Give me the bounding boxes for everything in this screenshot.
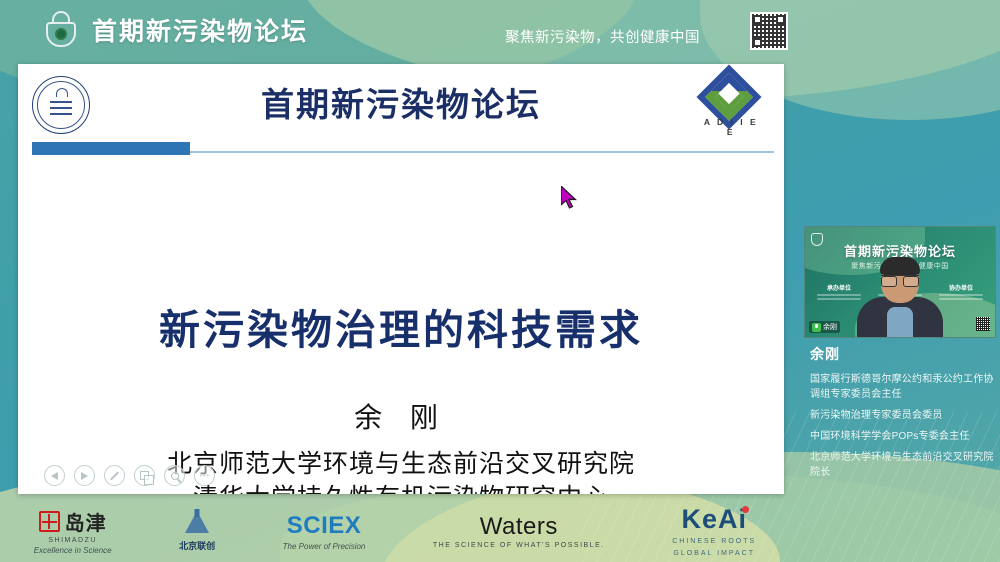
- microphone-icon: [812, 323, 821, 332]
- mouse-cursor: [561, 186, 577, 210]
- copy-icon: [140, 471, 149, 480]
- speaker-credential: 国家履行斯德哥尔摩公约和汞公约工作协调组专家委员会主任: [810, 372, 994, 402]
- magnifier-icon: [171, 472, 179, 480]
- header-slogan: 聚焦新污染物，共创健康中国: [505, 26, 700, 47]
- slide-header: 首期新污染物论坛 A D I I E E: [18, 64, 784, 142]
- sponsor-tagline: The Power of Precision: [283, 542, 366, 551]
- slide-canvas[interactable]: 首期新污染物论坛 A D I I E E 新污染物治理的科技需求 余 刚 北京师…: [18, 64, 784, 494]
- sponsor-subtext: SHIMADZU: [34, 537, 112, 544]
- more-options-button[interactable]: •••: [194, 465, 215, 486]
- qr-code-icon[interactable]: [750, 12, 788, 50]
- speaker-info-panel: 余刚 国家履行斯德哥尔摩公约和汞公约工作协调组专家委员会主任 新污染物治理专家委…: [800, 344, 1000, 486]
- zoom-button[interactable]: [164, 465, 185, 486]
- sponsor-tagline-line1: CHINESE ROOTS: [672, 537, 756, 547]
- brand-title: 首期新污染物论坛: [92, 12, 308, 48]
- ellipsis-icon: •••: [200, 471, 210, 480]
- sponsor-strip: 岛津 SHIMADZU Excellence in Science 北京联创 S…: [0, 500, 790, 562]
- annotate-pen-button[interactable]: [104, 465, 125, 486]
- presentation-window: 首期新污染物论坛 聚焦新污染物，共创健康中国 首期新污染物论坛 A D I I …: [0, 0, 1000, 562]
- sponsor-name-cn: 北京联创: [179, 539, 215, 552]
- sponsor-wordmark: Waters: [433, 513, 605, 541]
- triangle-left-icon: [51, 472, 58, 480]
- video-qr-code-icon: [976, 317, 990, 331]
- pen-icon: [110, 471, 119, 480]
- triangle-right-icon: [81, 472, 88, 480]
- speaker-credential: 中国环境科学学会POPs专委会主任: [810, 429, 994, 444]
- video-name-label: 余刚: [823, 322, 837, 332]
- slides-overview-button[interactable]: [134, 465, 155, 486]
- prev-slide-button[interactable]: [44, 465, 65, 486]
- sponsor-wordmark: KeAi: [681, 504, 747, 535]
- next-slide-button[interactable]: [74, 465, 95, 486]
- sponsor-name-cn: 岛津: [65, 507, 107, 536]
- sponsor-keai: KeAi CHINESE ROOTS GLOBAL IMPACT: [672, 504, 756, 559]
- keai-wordmark-text: KeAi: [681, 504, 747, 534]
- sponsor-tagline: THE SCIENCE OF WHAT'S POSSIBLE.: [433, 542, 605, 549]
- sponsor-shimadzu: 岛津 SHIMADZU Excellence in Science: [34, 507, 112, 555]
- speaker-webcam-figure: [857, 259, 943, 337]
- sponsor-waters: Waters THE SCIENCE OF WHAT'S POSSIBLE.: [433, 513, 605, 549]
- adiiee-logo-icon: A D I I E E: [698, 72, 764, 138]
- speaker-credential: 新污染物治理专家委员会委员: [810, 408, 994, 423]
- sponsor-tagline: Excellence in Science: [34, 546, 112, 555]
- flask-icon: [184, 511, 210, 537]
- slide-presenter-name: 余 刚: [18, 396, 784, 436]
- speaker-video-tile[interactable]: 首期新污染物论坛 聚焦新污染物，共创健康中国 2022年 承办单位 主办单位 协…: [804, 226, 996, 338]
- video-name-badge: 余刚: [809, 321, 840, 333]
- sponsor-tagline-line2: GLOBAL IMPACT: [672, 549, 756, 559]
- slide-accent-divider: [18, 142, 784, 156]
- sponsor-sciex: SCIEX The Power of Precision: [283, 512, 366, 551]
- speaker-credential: 北京师范大学环境与生态前沿交叉研究院院长: [810, 450, 994, 480]
- speaker-name: 余刚: [810, 344, 994, 364]
- page-header: 首期新污染物论坛 聚焦新污染物，共创健康中国: [0, 0, 1000, 60]
- keai-dot-icon: [742, 506, 749, 513]
- adiiee-logo-caption: A D I I E E: [698, 117, 764, 137]
- shimadzu-mark-icon: [39, 511, 60, 532]
- slide-toolbar[interactable]: •••: [44, 465, 215, 486]
- sponsor-wordmark: SCIEX: [283, 512, 366, 540]
- sponsor-beijing-lab: 北京联创: [179, 511, 215, 552]
- slide-header-title: 首期新污染物论坛: [18, 78, 784, 126]
- slide-body: 新污染物治理的科技需求 余 刚 北京师范大学环境与生态前沿交叉研究院 清华大学持…: [18, 156, 784, 494]
- slide-main-title: 新污染物治理的科技需求: [18, 296, 784, 356]
- pagoda-seal-icon: [44, 11, 78, 49]
